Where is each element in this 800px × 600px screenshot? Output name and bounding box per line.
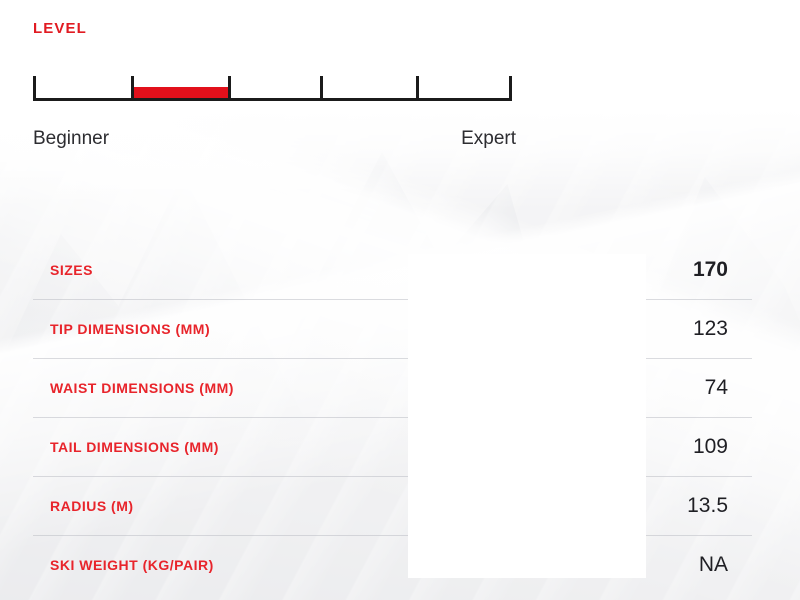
level-tick-3 bbox=[320, 76, 323, 101]
level-tick-2 bbox=[228, 76, 231, 101]
level-tick-4 bbox=[416, 76, 419, 101]
table-row: TAIL DIMENSIONS (MM) 109 bbox=[0, 417, 800, 476]
spec-label: RADIUS (M) bbox=[50, 498, 134, 514]
level-legend: Beginner Expert bbox=[33, 128, 516, 154]
blank-white-panel bbox=[408, 254, 646, 578]
spec-table: SIZES 170 TIP DIMENSIONS (MM) 123 WAIST … bbox=[0, 240, 800, 594]
table-row: SKI WEIGHT (KG/PAIR) NA bbox=[0, 535, 800, 594]
spec-label: SIZES bbox=[50, 262, 93, 278]
spec-value: 170 bbox=[693, 258, 728, 282]
table-row: RADIUS (M) 13.5 bbox=[0, 476, 800, 535]
spec-value: NA bbox=[699, 553, 728, 577]
spec-label: WAIST DIMENSIONS (MM) bbox=[50, 380, 234, 396]
level-legend-min: Beginner bbox=[33, 128, 109, 150]
level-scale-selected-segment bbox=[131, 87, 228, 98]
level-scale-baseline bbox=[33, 98, 512, 101]
table-row: WAIST DIMENSIONS (MM) 74 bbox=[0, 358, 800, 417]
spec-label: TAIL DIMENSIONS (MM) bbox=[50, 439, 219, 455]
level-scale[interactable] bbox=[33, 75, 512, 101]
level-tick-0 bbox=[33, 76, 36, 101]
level-section-title: LEVEL bbox=[33, 20, 87, 37]
table-row: TIP DIMENSIONS (MM) 123 bbox=[0, 299, 800, 358]
screen-root: LEVEL Beginner Expert SIZES 170 TIP DIME bbox=[0, 0, 800, 600]
level-tick-1 bbox=[131, 76, 134, 101]
spec-value: 109 bbox=[693, 435, 728, 459]
level-legend-max: Expert bbox=[461, 128, 516, 150]
spec-value: 123 bbox=[693, 317, 728, 341]
content-layer: LEVEL Beginner Expert SIZES 170 TIP DIME bbox=[0, 0, 800, 600]
spec-label: SKI WEIGHT (KG/PAIR) bbox=[50, 557, 214, 573]
level-tick-5 bbox=[509, 76, 512, 101]
spec-label: TIP DIMENSIONS (MM) bbox=[50, 321, 210, 337]
table-row: SIZES 170 bbox=[0, 240, 800, 299]
spec-value: 74 bbox=[705, 376, 728, 400]
spec-value: 13.5 bbox=[687, 494, 728, 518]
